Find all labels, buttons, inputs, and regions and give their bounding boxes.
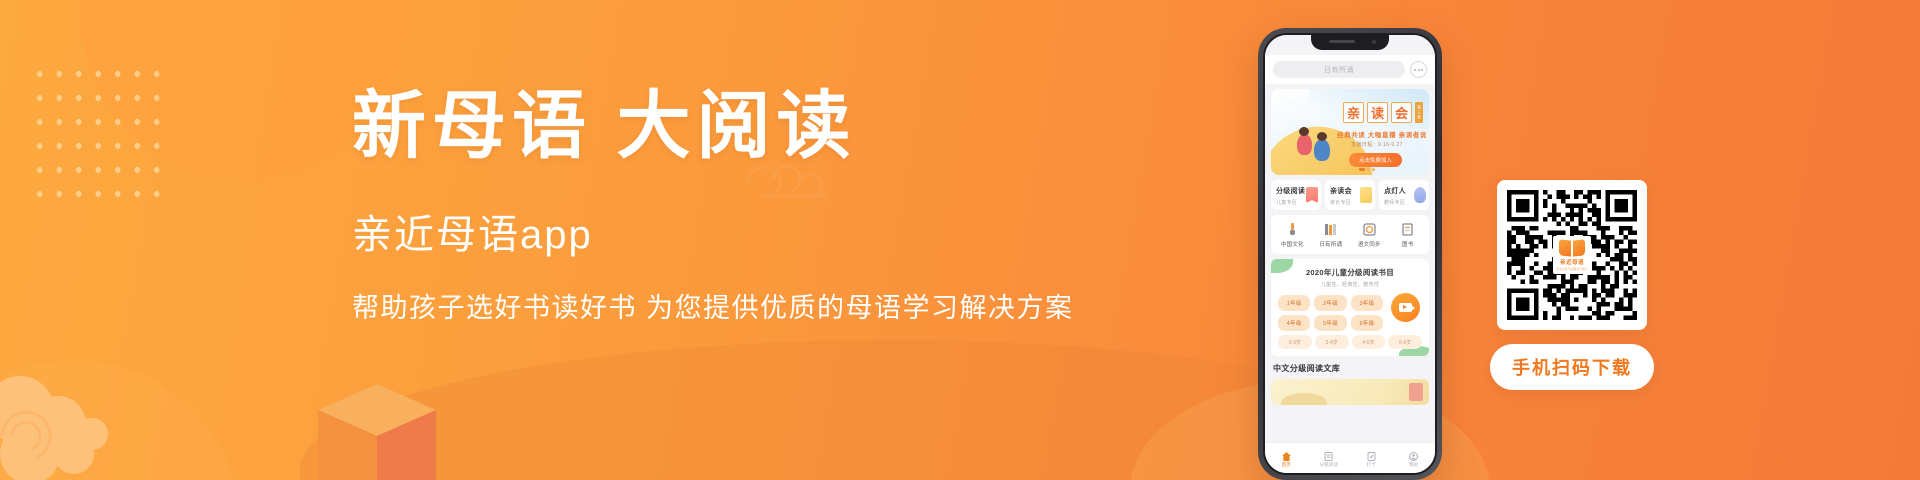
decor-cloud-bottom-left	[0, 350, 192, 480]
library-card[interactable]	[1271, 379, 1429, 405]
search-row: 日有所诵	[1265, 55, 1435, 84]
birds-icon: ··	[1287, 101, 1297, 107]
tab-label: 我的	[1409, 462, 1418, 468]
book-icon	[1400, 222, 1415, 237]
tab-label: 首页	[1282, 462, 1291, 468]
carousel-dots[interactable]	[1359, 168, 1375, 171]
promo-date: 直播日程：9.16-9.27	[1351, 141, 1403, 148]
feature-card-parent-club[interactable]: 亲读会 家长专区	[1325, 180, 1375, 210]
kid-figure-blue	[1314, 139, 1330, 161]
booklist-subtitle: 儿童性、经典性、教育性	[1278, 281, 1422, 288]
tab-checkin[interactable]: 打卡	[1350, 449, 1393, 468]
grade-tag[interactable]: 1年级	[1278, 295, 1310, 311]
search-input[interactable]: 日有所诵	[1273, 61, 1405, 78]
kid-figure-red	[1297, 134, 1312, 155]
category-label: 日有所诵	[1319, 240, 1342, 248]
tab-home[interactable]: 首页	[1265, 449, 1308, 468]
tab-label: 打卡	[1367, 462, 1376, 468]
booklist-title: 2020年儿童分级阅读书目	[1278, 267, 1422, 278]
qr-logo-sub: 专注儿童 母语教育与推广	[1556, 267, 1588, 271]
phone-mockup: 日有所诵 ·· 亲 读 会 第三季	[1258, 28, 1442, 480]
age-tag[interactable]: 3-4岁	[1315, 335, 1349, 349]
category-chinese-culture[interactable]: 中国文化	[1273, 222, 1312, 248]
grade-tags: 1年级 2年级 3年级 4年级 5年级 6年级	[1278, 295, 1383, 331]
age-tag[interactable]: 4-5岁	[1352, 335, 1386, 349]
category-label: 图书	[1402, 240, 1413, 248]
promo-season-tag: 第三季	[1415, 102, 1423, 123]
grade-tag[interactable]: 3年级	[1351, 295, 1383, 311]
brush-icon	[1285, 222, 1300, 237]
video-play-icon[interactable]	[1391, 293, 1420, 322]
decor-circle-bottom-left	[0, 360, 240, 480]
promo-title-char: 会	[1391, 102, 1412, 123]
scan-download-button[interactable]: 手机扫码下载	[1490, 344, 1654, 390]
camera-icon	[1372, 40, 1376, 44]
promo-title: 亲 读 会 第三季	[1343, 102, 1423, 123]
feature-cards: 分级阅读 儿童专区 亲读会 家长专区 点灯人 教师专区	[1271, 180, 1429, 210]
age-tags: 0-3岁 3-4岁 4-5岁 5-6岁	[1278, 335, 1422, 349]
grade-tag[interactable]: 6年级	[1351, 315, 1383, 331]
decor-cube	[318, 384, 436, 480]
promo-cta-button[interactable]: 点击免费加入	[1349, 153, 1402, 167]
qr-center-logo: 亲近母语 专注儿童 母语教育与推广	[1553, 236, 1591, 274]
category-daily-recite[interactable]: 日有所诵	[1312, 222, 1351, 248]
phone-notch	[1311, 35, 1389, 50]
book-cover-icon	[1409, 383, 1423, 401]
grade-tag[interactable]: 4年级	[1278, 315, 1310, 331]
speaker-icon	[1329, 40, 1355, 43]
qr-card: 亲近母语 专注儿童 母语教育与推广	[1497, 180, 1647, 330]
tab-label: 分级阅读	[1320, 462, 1338, 468]
books-icon	[1323, 222, 1338, 237]
tagline: 帮助孩子选好书读好书 为您提供优质的母语学习解决方案	[352, 286, 1052, 325]
booklist-card: 2020年儿童分级阅读书目 儿童性、经典性、教育性 1年级 2年级 3年级 4年…	[1271, 259, 1429, 356]
phone-screen: 日有所诵 ·· 亲 读 会 第三季	[1265, 35, 1435, 473]
grade-tag[interactable]: 5年级	[1314, 315, 1346, 331]
promo-title-char: 亲	[1343, 102, 1364, 123]
age-tag[interactable]: 5-6岁	[1388, 335, 1422, 349]
category-label: 语文同步	[1358, 240, 1381, 248]
page-title: 新母语 大阅读	[352, 88, 1052, 166]
note-icon	[1360, 187, 1372, 203]
book-logo-icon	[1559, 240, 1585, 256]
feature-card-teacher[interactable]: 点灯人 教师专区	[1379, 180, 1429, 210]
shelf-decor-icon	[1281, 393, 1327, 405]
promo-banner: 新母语 大阅读 亲近母语app 帮助孩子选好书读好书 为您提供优质的母语学习解决…	[0, 0, 1920, 480]
person-icon	[1414, 187, 1426, 203]
category-books[interactable]: 图书	[1389, 222, 1428, 248]
circle-square-icon	[1362, 222, 1377, 237]
phone-frame: 日有所诵 ·· 亲 读 会 第三季	[1263, 33, 1437, 475]
copy-block: 新母语 大阅读 亲近母语app 帮助孩子选好书读好书 为您提供优质的母语学习解决…	[352, 88, 1052, 325]
more-dots-icon[interactable]	[1410, 61, 1427, 78]
section-title: 中文分级阅读文库	[1273, 363, 1427, 374]
check-icon	[1366, 449, 1377, 460]
list-icon	[1323, 449, 1334, 460]
qr-logo-title: 亲近母语	[1560, 258, 1584, 266]
tab-graded-reading[interactable]: 分级阅读	[1308, 449, 1351, 468]
promo-subtitle: 经典共读 大咖直播 亲读者说	[1337, 129, 1427, 139]
decor-dot-grid	[28, 60, 168, 210]
tab-bar: 首页 分级阅读	[1265, 442, 1435, 473]
home-icon	[1281, 449, 1292, 460]
qr-block: 亲近母语 专注儿童 母语教育与推广 手机扫码下载	[1497, 180, 1647, 390]
app-name: 亲近母语app	[352, 202, 1052, 260]
search-placeholder: 日有所诵	[1324, 65, 1354, 75]
promo-card[interactable]: ·· 亲 读 会 第三季 经典共读 大咖直播 亲读者说 直播日程：9.16-9.…	[1271, 89, 1429, 175]
promo-title-char: 读	[1367, 102, 1388, 123]
age-tag[interactable]: 0-3岁	[1278, 335, 1312, 349]
category-textbook-sync[interactable]: 语文同步	[1350, 222, 1389, 248]
category-label: 中国文化	[1281, 240, 1304, 248]
user-icon	[1408, 449, 1419, 460]
grade-tag[interactable]: 2年级	[1314, 295, 1346, 311]
category-row: 中国文化 日有所诵	[1271, 215, 1429, 254]
qr-code[interactable]: 亲近母语 专注儿童 母语教育与推广	[1507, 190, 1637, 320]
feature-card-graded-reading[interactable]: 分级阅读 儿童专区	[1271, 180, 1321, 210]
tab-profile[interactable]: 我的	[1393, 449, 1436, 468]
